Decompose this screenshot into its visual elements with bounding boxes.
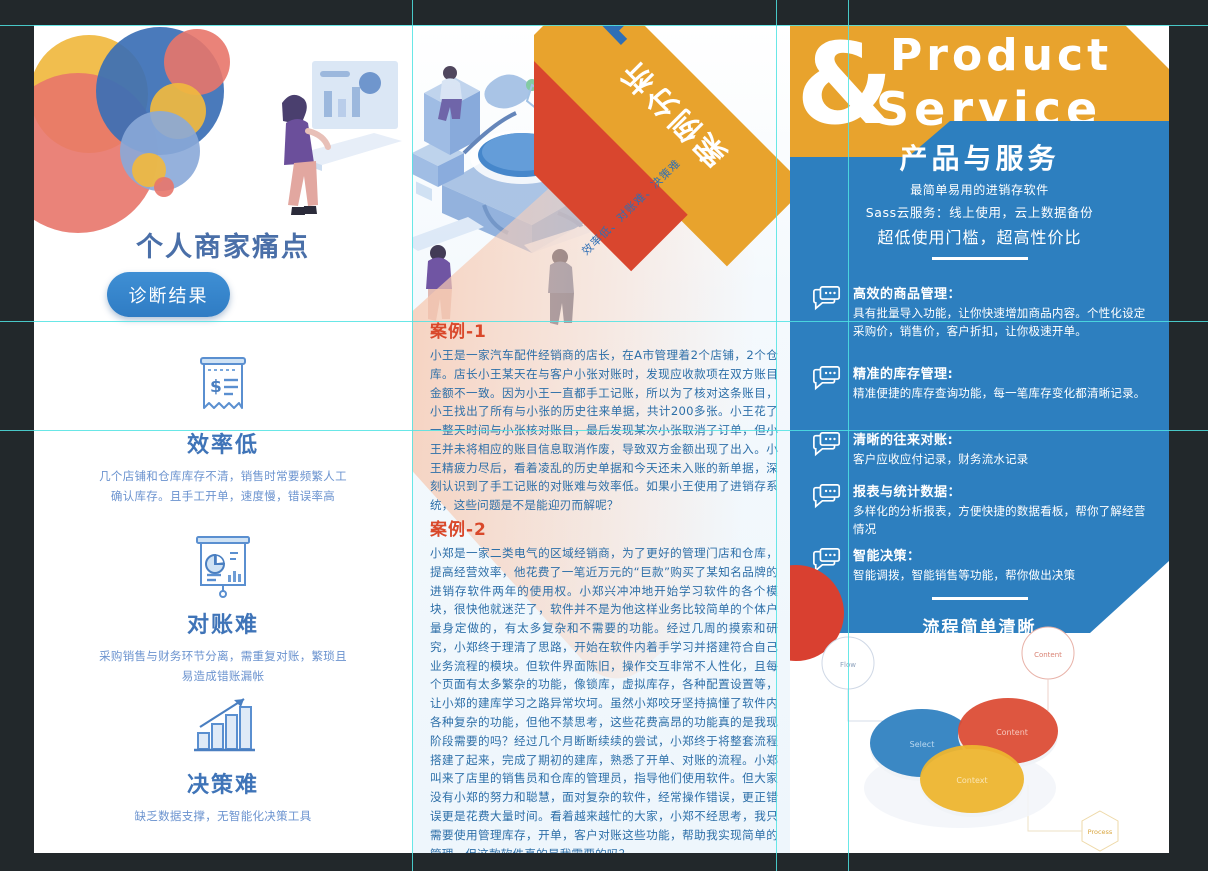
feature-item: 报表与统计数据： 多样化的分析报表，方便快捷的数据看板，帮你了解经营情况 (812, 481, 1154, 538)
divider-bottom (932, 597, 1028, 600)
svg-text:Content: Content (996, 728, 1028, 737)
feature-title: 清晰的往来对账: (853, 429, 1029, 448)
divider-top (932, 257, 1028, 260)
case-title: 案例-1 (430, 317, 778, 342)
case-block: 案例-2 小郑是一家二类电气的区域经销商，为了更好的管理门店和仓库，提高经营效率… (430, 515, 778, 853)
section-title: 产品与服务 (790, 137, 1169, 177)
pain-point-heading: 决策难 (34, 767, 412, 799)
pain-point-heading: 效率低 (34, 427, 412, 459)
pain-point-desc: 缺乏数据支撑，无智能化决策工具 (98, 806, 348, 826)
headline-product: Product (890, 33, 1112, 79)
pain-point-item: 对账难 采购销售与财务环节分离，需重复对账，繁琐且易造成错账漏帐 (34, 533, 412, 686)
feature-item: 清晰的往来对账: 客户应收应付记录，财务流水记录 (812, 429, 1154, 468)
chat-bubble-icon (812, 365, 842, 395)
receipt-icon: $ (34, 353, 412, 421)
feature-desc: 客户应收应付记录，财务流水记录 (853, 450, 1029, 468)
feature-item: 高效的商品管理： 具有批量导入功能，让你快速增加商品内容。个性化设定采购价，销售… (812, 283, 1154, 340)
feature-title: 精准的库存管理: (853, 363, 1146, 382)
feature-desc: 具有批量导入功能，让你快速增加商品内容。个性化设定采购价，销售价，客户折扣，让你… (853, 304, 1154, 340)
artboard: 个人商家痛点 诊断结果 $ 效率低 几个店铺和仓库库存不清，销售时 (34, 25, 1169, 853)
presentation-chart-icon (34, 533, 412, 601)
venn-diagram: Flow Content Process Select Content Cont… (800, 625, 1169, 853)
svg-text:Content: Content (1034, 651, 1062, 659)
svg-text:$: $ (210, 377, 222, 397)
panel-case-analysis: 案例-1 小王是一家汽车配件经销商的店长，在A市管理着2个店铺，2个仓库。店长小… (412, 25, 790, 853)
section-subtitle-1: 最简单易用的进销存软件 (790, 181, 1169, 198)
pain-point-desc: 采购销售与财务环节分离，需重复对账，繁琐且易造成错账漏帐 (98, 646, 348, 686)
feature-item: 精准的库存管理: 精准便捷的库存查询功能，每一笔库存变化都清晰记录。 (812, 363, 1154, 402)
diagnosis-result-button[interactable]: 诊断结果 (107, 272, 230, 317)
chat-bubble-icon (812, 483, 842, 513)
feature-title: 智能决策： (853, 545, 1075, 564)
section-subtitle-2: Sass云服务：线上使用，云上数据备份 (790, 202, 1169, 221)
pain-point-item: $ 效率低 几个店铺和仓库库存不清，销售时常要频繁人工确认库存。且手工开单，速度… (34, 353, 412, 506)
svg-text:Context: Context (956, 776, 987, 785)
feature-title: 高效的商品管理： (853, 283, 1154, 302)
svg-text:Process: Process (1088, 828, 1113, 836)
feature-desc: 精准便捷的库存查询功能，每一笔库存变化都清晰记录。 (853, 384, 1146, 402)
panel-pain-points: 个人商家痛点 诊断结果 $ 效率低 几个店铺和仓库库存不清，销售时 (34, 25, 412, 853)
pain-point-heading: 对账难 (34, 607, 412, 639)
chat-bubble-icon (812, 431, 842, 461)
svg-text:Flow: Flow (840, 661, 856, 669)
page-title: 个人商家痛点 (34, 225, 412, 264)
feature-item: 智能决策： 智能调拨，智能销售等功能，帮你做出决策 (812, 545, 1154, 584)
pain-point-item: 决策难 缺乏数据支撑，无智能化决策工具 (34, 693, 412, 826)
section-subtitle-3: 超低使用门槛，超高性价比 (790, 224, 1169, 248)
growth-bar-chart-icon (34, 693, 412, 761)
feature-title: 报表与统计数据： (853, 481, 1154, 500)
panel-product-service: & Product Service 产品与服务 最简单易用的进销存软件 Sass… (790, 25, 1169, 853)
case-block: 案例-1 小王是一家汽车配件经销商的店长，在A市管理着2个店铺，2个仓库。店长小… (430, 317, 778, 515)
feature-desc: 多样化的分析报表，方便快捷的数据看板，帮你了解经营情况 (853, 502, 1154, 538)
case-body: 小郑是一家二类电气的区域经销商，为了更好的管理门店和仓库，提高经营效率，他花费了… (430, 544, 778, 853)
feature-desc: 智能调拨，智能销售等功能，帮你做出决策 (853, 566, 1075, 584)
illustration-analyst (224, 45, 424, 305)
svg-text:Select: Select (910, 740, 935, 749)
case-body: 小王是一家汽车配件经销商的店长，在A市管理着2个店铺，2个仓库。店长小王某天在与… (430, 346, 778, 515)
pain-point-desc: 几个店铺和仓库库存不清，销售时常要频繁人工确认库存。且手工开单，速度慢，错误率高 (98, 466, 348, 506)
screenshot-canvas: 个人商家痛点 诊断结果 $ 效率低 几个店铺和仓库库存不清，销售时 (0, 0, 1208, 871)
chat-bubble-icon (812, 285, 842, 315)
case-title: 案例-2 (430, 515, 778, 540)
